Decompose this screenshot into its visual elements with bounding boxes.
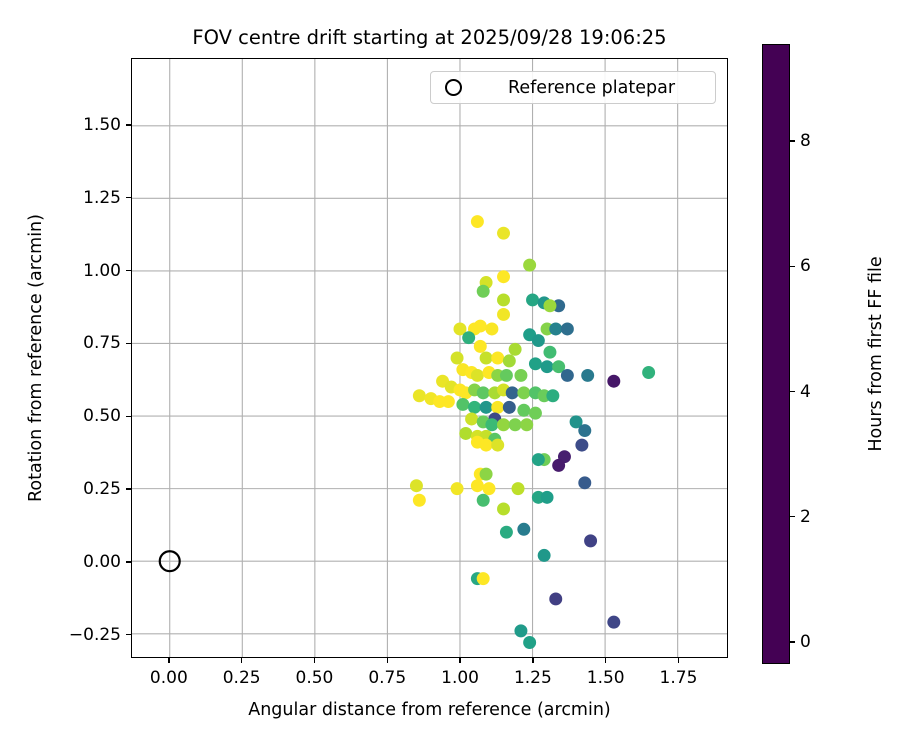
scatter-point <box>509 418 522 431</box>
scatter-plot-svg <box>132 59 727 657</box>
scatter-point <box>497 293 510 306</box>
colorbar-tick-mark <box>790 391 795 392</box>
scatter-point <box>480 352 493 365</box>
scatter-point <box>509 343 522 356</box>
scatter-point <box>413 389 426 402</box>
scatter-point <box>491 401 504 414</box>
x-tick-mark <box>387 658 388 663</box>
colorbar <box>762 44 790 664</box>
scatter-point <box>491 439 504 452</box>
x-axis-label: Angular distance from reference (arcmin) <box>131 700 728 720</box>
y-tick-mark <box>126 197 131 198</box>
x-tick-mark <box>532 658 533 663</box>
scatter-point <box>413 494 426 507</box>
scatter-point <box>485 322 498 335</box>
scatter-point <box>517 404 530 417</box>
scatter-point <box>523 259 536 272</box>
y-tick-label: −0.25 <box>69 625 121 645</box>
legend-box: Reference platepar <box>430 71 716 104</box>
x-tick-label: 0.00 <box>150 668 188 688</box>
y-tick-mark <box>126 124 131 125</box>
colorbar-tick-label: 6 <box>800 256 811 276</box>
scatter-point <box>459 427 472 440</box>
y-tick-label: 0.50 <box>83 406 121 426</box>
scatter-point <box>517 386 530 399</box>
colorbar-label: Hours from first FF file <box>866 256 886 451</box>
x-tick-mark <box>678 658 679 663</box>
y-tick-mark <box>126 270 131 271</box>
scatter-point <box>480 439 493 452</box>
scatter-point <box>520 418 533 431</box>
chart-title: FOV centre drift starting at 2025/09/28 … <box>131 26 728 49</box>
scatter-point <box>514 369 527 382</box>
scatter-point <box>607 375 620 388</box>
scatter-point <box>529 407 542 420</box>
scatter-point <box>497 502 510 515</box>
scatter-point <box>474 320 487 333</box>
scatter-point <box>500 526 513 539</box>
scatter-point <box>561 322 574 335</box>
scatter-point <box>451 482 464 495</box>
y-tick-label: 0.75 <box>83 333 121 353</box>
scatter-point <box>517 523 530 536</box>
colorbar-tick-mark <box>790 641 795 642</box>
scatter-point <box>497 418 510 431</box>
scatter-point <box>497 227 510 240</box>
y-tick-mark <box>126 416 131 417</box>
colorbar-tick-label: 0 <box>800 632 811 652</box>
y-tick-mark <box>126 343 131 344</box>
x-tick-label: 0.25 <box>223 668 261 688</box>
scatter-point <box>543 346 556 359</box>
scatter-point <box>575 439 588 452</box>
scatter-point <box>451 352 464 365</box>
scatter-point <box>503 354 516 367</box>
colorbar-tick-mark <box>790 140 795 141</box>
colorbar-tick-label: 2 <box>800 507 811 527</box>
scatter-point <box>465 412 478 425</box>
scatter-point <box>581 369 594 382</box>
scatter-point <box>503 401 516 414</box>
scatter-point <box>549 592 562 605</box>
y-tick-label: 1.25 <box>83 188 121 208</box>
scatter-point <box>442 395 455 408</box>
y-tick-label: 0.00 <box>83 552 121 572</box>
gridlines <box>132 59 727 657</box>
x-tick-mark <box>241 658 242 663</box>
y-tick-label: 1.50 <box>83 115 121 135</box>
scatter-point <box>526 293 539 306</box>
scatter-point <box>546 389 559 402</box>
y-tick-label: 1.00 <box>83 261 121 281</box>
scatter-point <box>584 534 597 547</box>
scatter-point <box>552 459 565 472</box>
scatter-point <box>497 270 510 283</box>
scatter-point <box>541 491 554 504</box>
colorbar-gradient <box>763 45 789 663</box>
scatter-point <box>477 285 490 298</box>
scatter-point <box>474 340 487 353</box>
scatter-point <box>410 479 423 492</box>
colorbar-tick-mark <box>790 266 795 267</box>
y-tick-label: 0.25 <box>83 479 121 499</box>
x-tick-mark <box>168 658 169 663</box>
scatter-point <box>477 572 490 585</box>
scatter-point <box>462 331 475 344</box>
x-tick-label: 1.50 <box>587 668 625 688</box>
x-tick-mark <box>314 658 315 663</box>
scatter-point <box>477 386 490 399</box>
scatter-point <box>483 482 496 495</box>
scatter-point <box>512 482 525 495</box>
scatter-point <box>456 398 469 411</box>
scatter-point <box>578 424 591 437</box>
x-tick-mark <box>605 658 606 663</box>
scatter-point <box>485 418 498 431</box>
plot-axes <box>131 58 728 658</box>
scatter-point <box>607 616 620 629</box>
scatter-point <box>541 360 554 373</box>
scatter-point <box>506 386 519 399</box>
colorbar-tick-label: 4 <box>800 382 811 402</box>
y-tick-mark <box>126 634 131 635</box>
x-tick-label: 0.50 <box>296 668 334 688</box>
scatter-point <box>471 479 484 492</box>
scatter-point <box>543 299 556 312</box>
scatter-point <box>497 308 510 321</box>
legend-reference-circle-icon <box>445 79 462 96</box>
scatter-point <box>578 476 591 489</box>
figure-canvas: FOV centre drift starting at 2025/09/28 … <box>0 0 900 750</box>
scatter-point <box>480 468 493 481</box>
scatter-point <box>500 369 513 382</box>
y-tick-mark <box>126 561 131 562</box>
scatter-point <box>532 334 545 347</box>
x-tick-mark <box>459 658 460 663</box>
scatter-point <box>642 366 655 379</box>
scatter-point <box>471 215 484 228</box>
y-tick-mark <box>126 488 131 489</box>
colorbar-tick-mark <box>790 516 795 517</box>
x-tick-label: 1.75 <box>660 668 698 688</box>
x-tick-label: 0.75 <box>368 668 406 688</box>
x-tick-label: 1.25 <box>514 668 552 688</box>
scatter-point <box>532 453 545 466</box>
y-axis-label: Rotation from reference (arcmin) <box>26 214 46 502</box>
scatter-point <box>514 624 527 637</box>
scatter-point <box>468 401 481 414</box>
scatter-point <box>523 636 536 649</box>
colorbar-tick-label: 8 <box>800 131 811 151</box>
x-tick-label: 1.00 <box>441 668 479 688</box>
scatter-point <box>471 369 484 382</box>
legend-label-reference-platepar: Reference platepar <box>508 78 675 98</box>
scatter-point <box>561 369 574 382</box>
scatter-point <box>491 352 504 365</box>
scatter-point <box>480 401 493 414</box>
scatter-point <box>529 357 542 370</box>
scatter-point <box>549 322 562 335</box>
scatter-point <box>477 494 490 507</box>
scatter-point <box>538 549 551 562</box>
